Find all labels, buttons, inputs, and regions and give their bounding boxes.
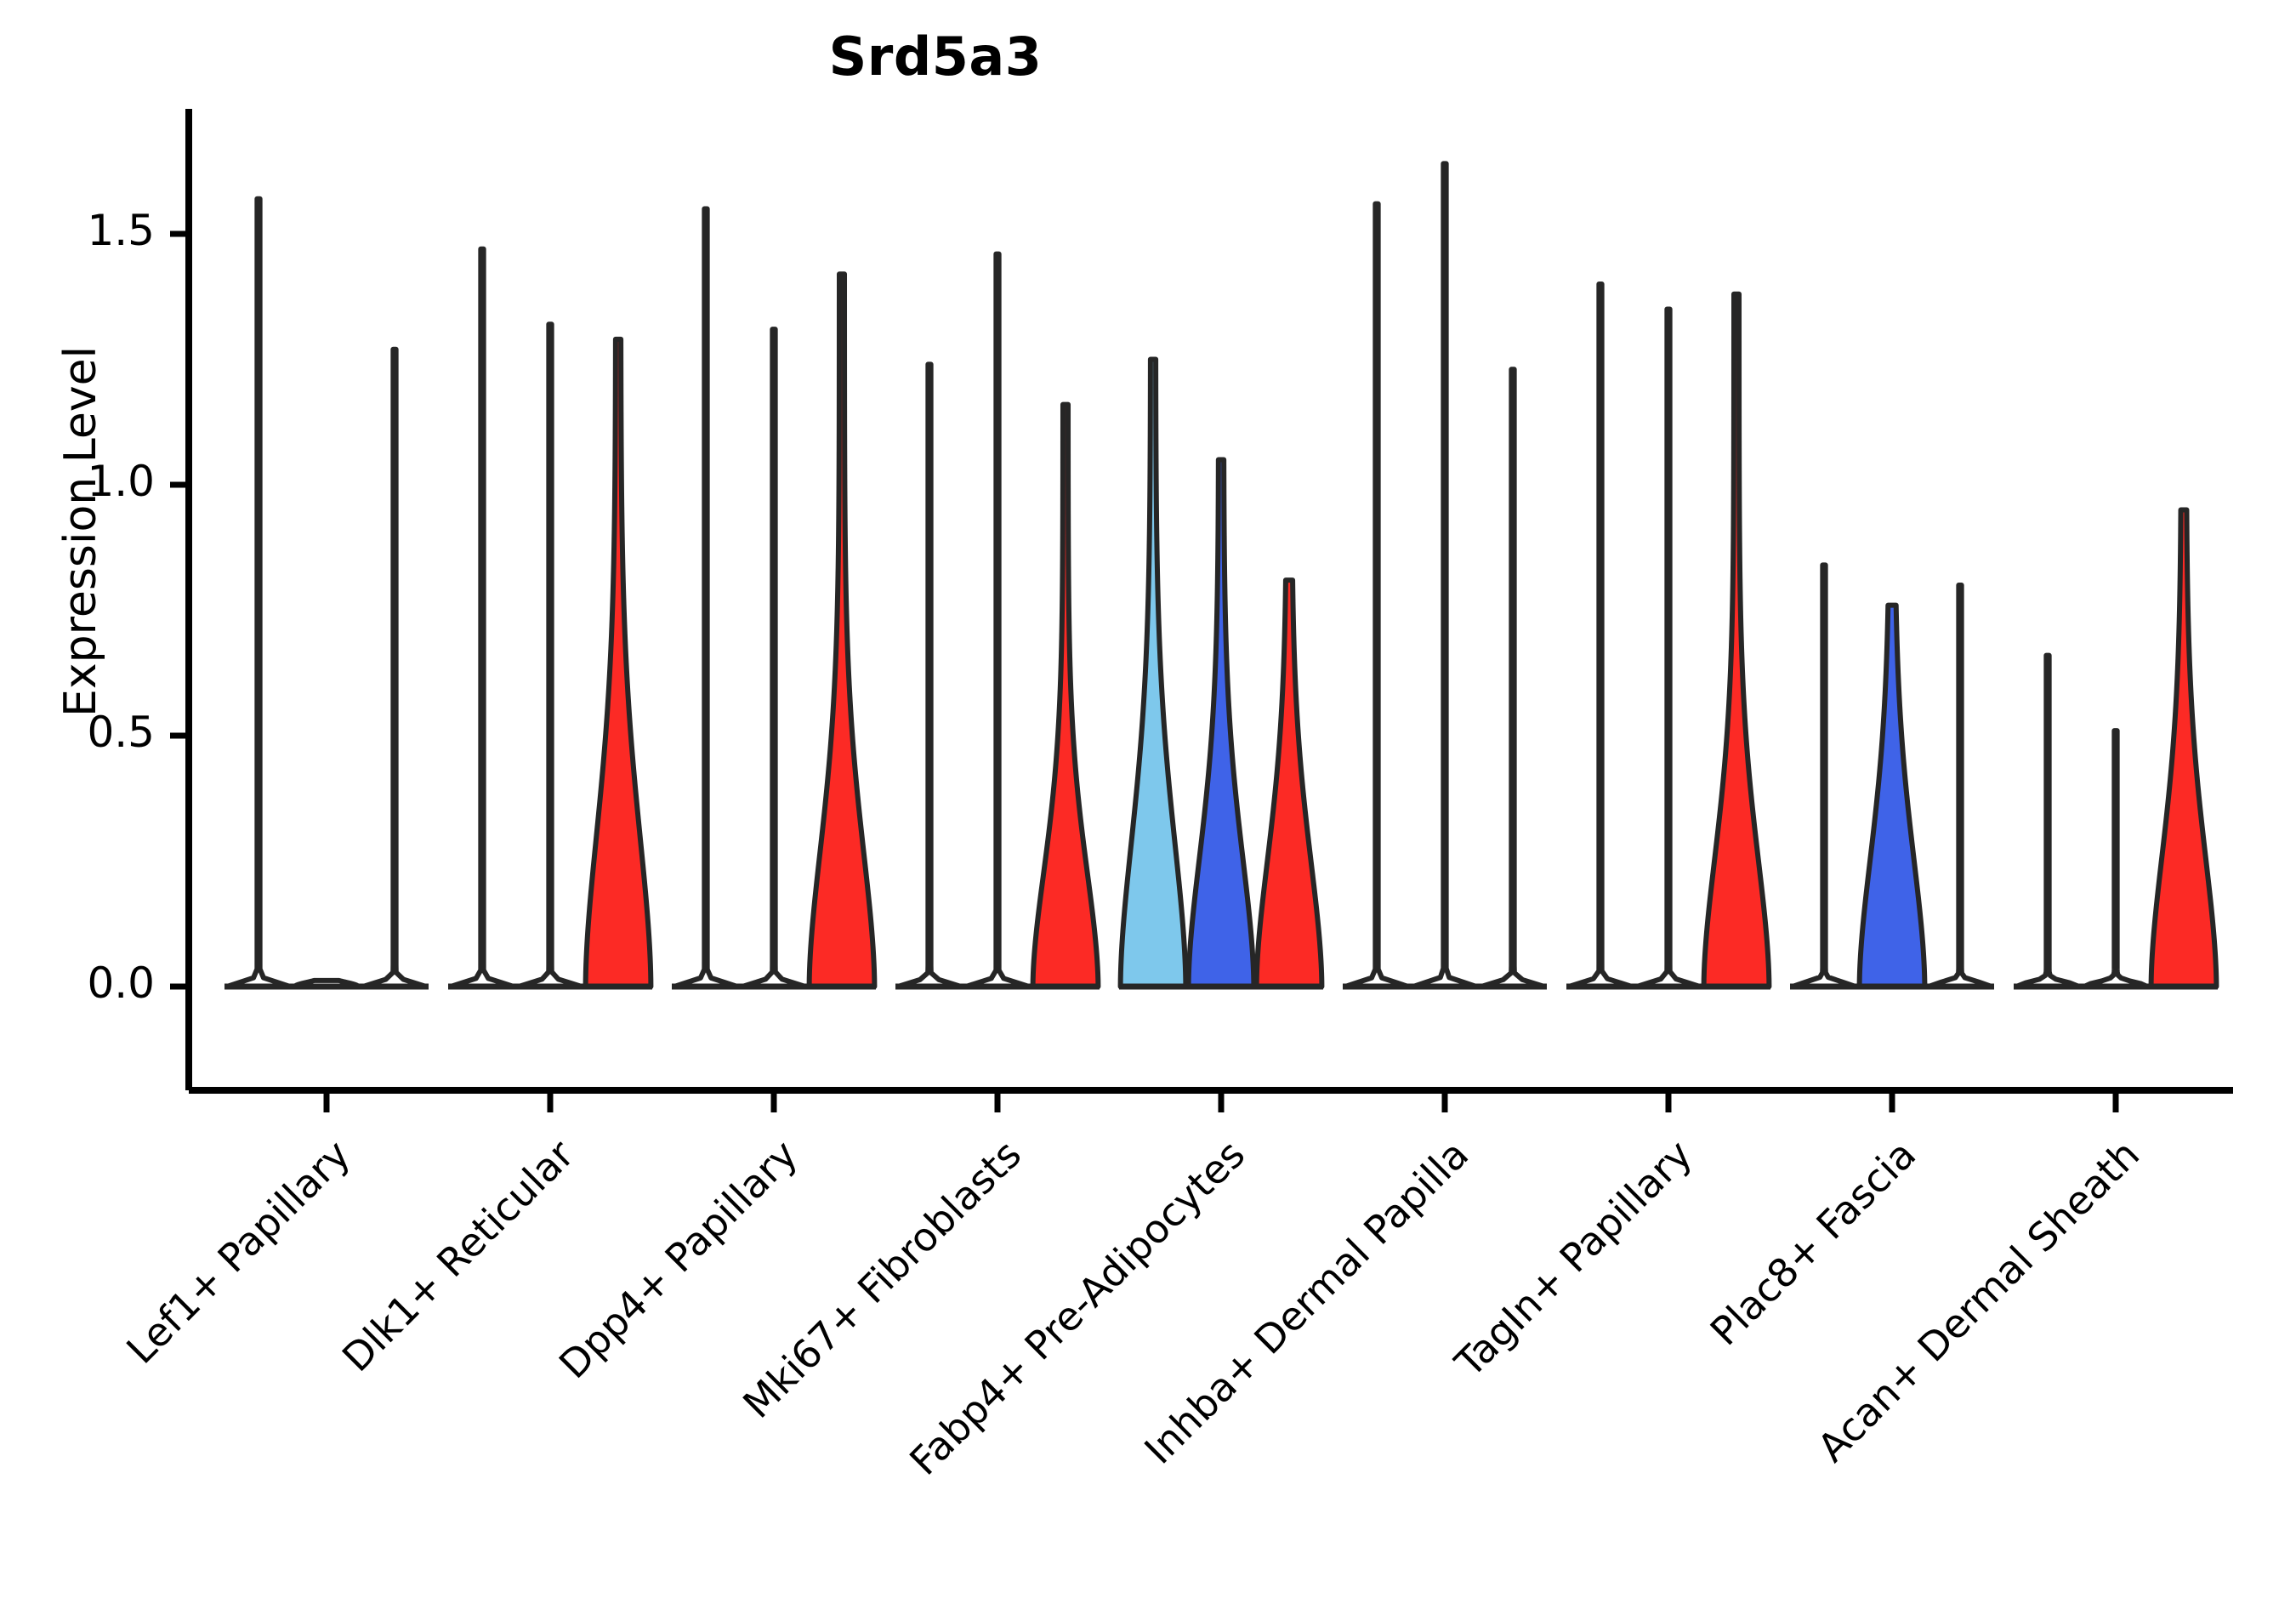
y-axis-tick-label: 0.5 [0, 708, 155, 757]
violin-body [1704, 294, 1770, 987]
violin [584, 339, 652, 987]
violin-body [1189, 460, 1254, 987]
violin [2150, 510, 2218, 987]
violin [1119, 360, 1187, 987]
violin-body [1345, 204, 1408, 987]
violin-body [1929, 585, 1992, 987]
violin [224, 199, 293, 987]
violin-body [2016, 656, 2079, 987]
violin [895, 364, 963, 987]
violin [1702, 294, 1770, 987]
violin [2014, 656, 2082, 987]
violin [1343, 204, 1411, 987]
violin-body [1793, 565, 1856, 987]
violin-body [519, 324, 582, 987]
violin [293, 981, 361, 987]
violin [1858, 606, 1926, 987]
violin [1926, 585, 1994, 987]
violin-body [363, 350, 426, 987]
violin [1479, 369, 1547, 987]
violin-body [966, 254, 1029, 987]
violin-body [2151, 510, 2217, 987]
violin [1187, 460, 1255, 987]
violin-body [898, 364, 961, 987]
violin [2082, 731, 2150, 987]
violin-body [1121, 360, 1186, 987]
violin [808, 274, 876, 987]
violin-body [2084, 731, 2147, 987]
y-axis-tick-label: 0.0 [0, 958, 155, 1008]
violin-body [1257, 580, 1322, 987]
violin-body [586, 339, 651, 987]
violin-body [451, 249, 514, 987]
y-axis-tick-label: 1.0 [0, 457, 155, 506]
y-axis-tick-label: 1.5 [0, 206, 155, 255]
violin [1790, 565, 1858, 987]
violin [1255, 580, 1323, 987]
violin-body [1860, 606, 1925, 987]
violin-layer [224, 163, 2218, 987]
violin [1411, 163, 1479, 987]
violin [963, 254, 1031, 987]
violin-body [1569, 284, 1632, 987]
violin-body [674, 209, 737, 987]
violin-body [1033, 405, 1099, 987]
violin-body [742, 329, 805, 987]
violin [361, 350, 429, 987]
violin-body [1637, 310, 1700, 987]
violin-plot-figure: Srd5a3 Expression Level 0.00.51.01.5 Lef… [0, 0, 2296, 1531]
violin [1566, 284, 1634, 987]
violin [672, 209, 740, 987]
violin-body [227, 199, 290, 987]
violin [516, 324, 584, 987]
violin-body [810, 274, 875, 987]
violin [448, 249, 516, 987]
violin [740, 329, 808, 987]
violin [1031, 405, 1100, 987]
violin-body [1481, 369, 1544, 987]
violin-body [1413, 163, 1476, 987]
violin [1634, 310, 1702, 987]
